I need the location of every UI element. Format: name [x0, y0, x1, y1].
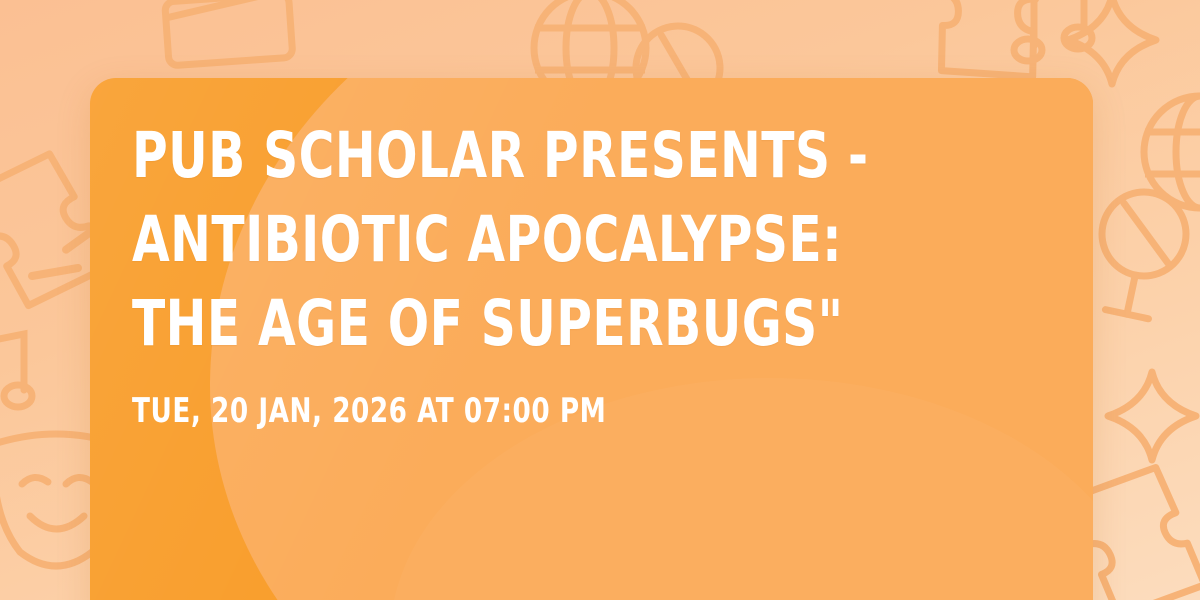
event-title: Pub Scholar presents - Antibiotic Apocal… [132, 114, 924, 365]
event-card-content: Pub Scholar presents - Antibiotic Apocal… [132, 114, 1053, 432]
event-card[interactable]: Pub Scholar presents - Antibiotic Apocal… [90, 78, 1093, 600]
page-background: Pub Scholar presents - Antibiotic Apocal… [0, 0, 1200, 600]
event-datetime: Tue, 20 Jan, 2026 at 07:00 PM [132, 391, 924, 432]
